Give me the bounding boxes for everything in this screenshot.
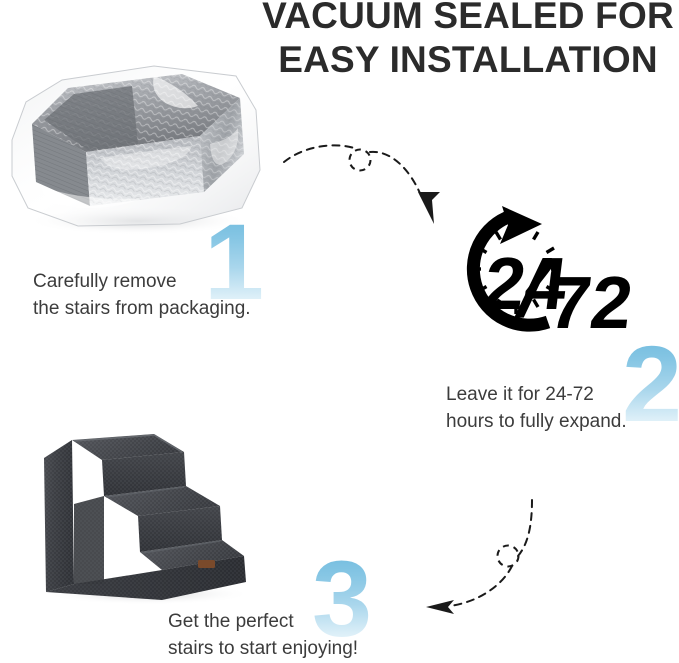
arrow1-segment-start	[284, 145, 354, 162]
arrow2-segment-end	[450, 566, 512, 606]
arrow2-loop	[498, 546, 519, 567]
page-title: VACUUM SEALED FOR EASY INSTALLATION	[248, 0, 679, 82]
step-number-2: 2	[622, 330, 679, 438]
step-caption-3: Get the perfect stairs to start enjoying…	[168, 608, 358, 662]
pet-stairs-photo	[30, 414, 260, 606]
clock-hours-label: 24 / 72	[479, 242, 634, 344]
page-title-line-2: EASY INSTALLATION	[248, 38, 679, 82]
dashed-arrow-step1-to-step2	[282, 140, 458, 234]
stairs-left-panel-texture	[44, 440, 74, 592]
arrow1-head	[418, 192, 440, 224]
step-caption-1: Carefully remove the stairs from packagi…	[33, 268, 251, 322]
arrow1-loop	[350, 150, 371, 171]
page-title-line-1: VACUUM SEALED FOR	[262, 0, 674, 36]
infographic-page: VACUUM SEALED FOR EASY INSTALLATION	[0, 0, 679, 663]
arrow1-segment-end	[370, 152, 422, 198]
arrow2-head	[426, 600, 454, 614]
dashed-arrow-step2-to-step3	[420, 498, 610, 626]
step-caption-2: Leave it for 24-72 hours to fully expand…	[446, 381, 627, 435]
stairs-front-stringer-texture	[74, 496, 104, 584]
clock-hours-secondary: 72	[545, 261, 634, 344]
24-72-hour-clock-icon: 24 / 72	[438, 204, 634, 354]
stairs-brand-tag	[198, 560, 215, 568]
arrow2-segment-start	[518, 500, 532, 556]
